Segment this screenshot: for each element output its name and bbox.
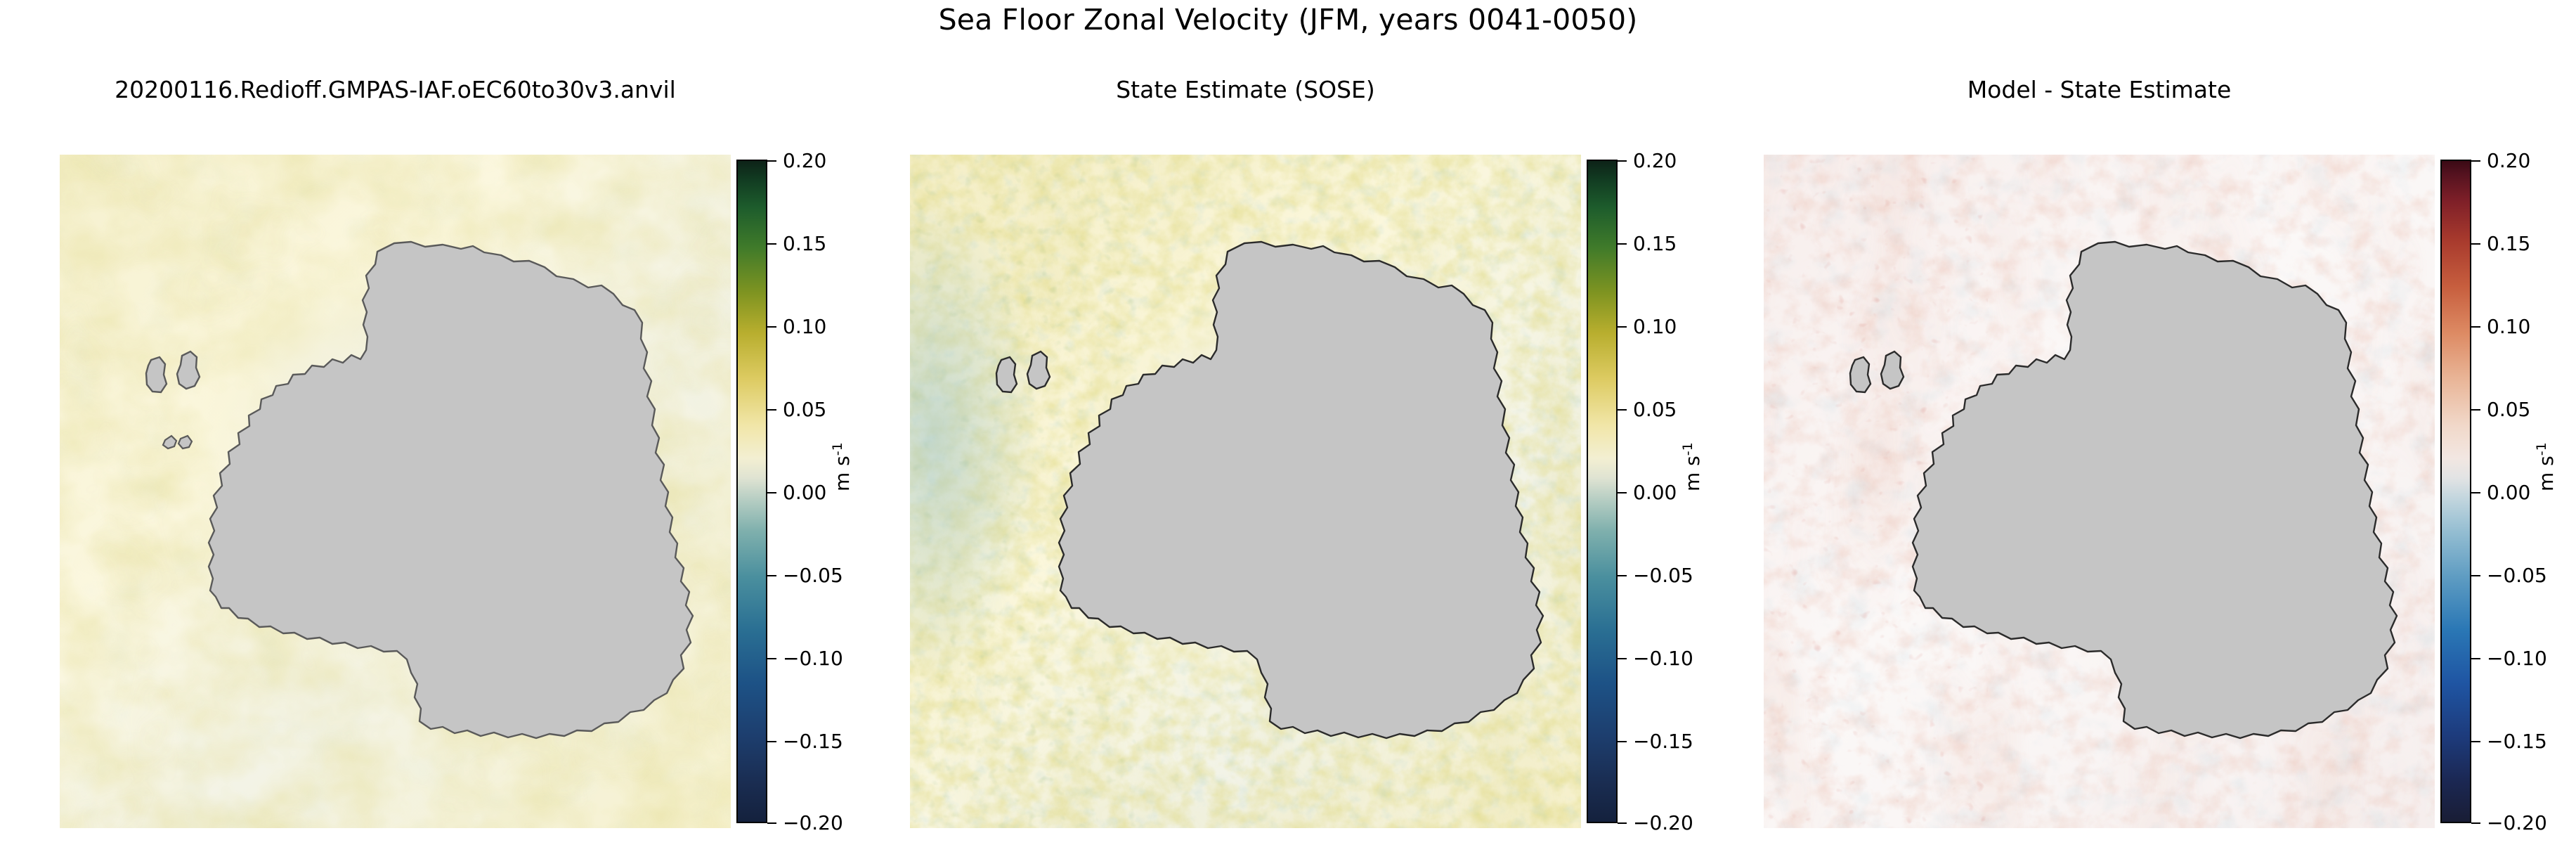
cb-tick-mark bbox=[1618, 243, 1627, 245]
cb-tick-label: −0.05 bbox=[1633, 562, 1693, 589]
cb-tick-label: −0.20 bbox=[1633, 810, 1693, 837]
cb-tick-label: 0.05 bbox=[2487, 396, 2530, 423]
colorbar-model[interactable]: 0.20 0.15 0.10 0.05 0.00 −0.05 −0.10 −0.… bbox=[736, 160, 898, 823]
cb-tick-label: 0.20 bbox=[783, 148, 826, 174]
colorbar-gradient-difference bbox=[2440, 160, 2471, 823]
cb-tick-mark bbox=[1618, 326, 1627, 328]
cb-tick-label: −0.05 bbox=[783, 562, 843, 589]
colorbar-ticks-model: 0.20 0.15 0.10 0.05 0.00 −0.05 −0.10 −0.… bbox=[767, 160, 898, 823]
map-svg-model bbox=[60, 155, 731, 828]
cb-tick-label: 0.10 bbox=[2487, 314, 2530, 340]
island-shape bbox=[996, 357, 1017, 392]
cb-tick-label: 0.05 bbox=[783, 396, 826, 423]
cb-tick-label: −0.10 bbox=[1633, 645, 1693, 672]
cb-tick-mark bbox=[767, 326, 776, 328]
cb-tick-mark bbox=[1618, 822, 1627, 824]
cb-tick-mark bbox=[767, 160, 776, 162]
unit-text: m s bbox=[1681, 456, 1704, 491]
colorbar-ticks-difference: 0.20 0.15 0.10 0.05 0.00 −0.05 −0.10 −0.… bbox=[2471, 160, 2576, 823]
unit-text: m s bbox=[831, 456, 854, 491]
cb-tick-label: −0.20 bbox=[2487, 810, 2547, 837]
cb-tick-label: −0.15 bbox=[2487, 728, 2547, 755]
map-panel-difference[interactable] bbox=[1764, 155, 2435, 828]
unit-text: m s bbox=[2535, 456, 2558, 491]
panel-title-difference: Model - State Estimate bbox=[1764, 76, 2435, 103]
cb-tick-label: −0.15 bbox=[1633, 728, 1693, 755]
cb-tick-label: 0.05 bbox=[1633, 396, 1677, 423]
cb-tick-mark bbox=[1618, 492, 1627, 493]
colorbar-gradient-model bbox=[736, 160, 767, 823]
colorbar-ticks-observations: 0.20 0.15 0.10 0.05 0.00 −0.05 −0.10 −0.… bbox=[1618, 160, 1748, 823]
panel-title-model: 20200116.Redioff.GMPAS-IAF.oEC60to30v3.a… bbox=[60, 76, 731, 103]
colorbar-unit-label-model: m s-1 bbox=[830, 442, 854, 491]
cb-tick-label: 0.10 bbox=[783, 314, 826, 340]
cb-tick-mark bbox=[1618, 575, 1627, 576]
cb-tick-mark bbox=[2471, 409, 2480, 411]
cb-tick-mark bbox=[2471, 243, 2480, 245]
map-panel-model[interactable] bbox=[60, 155, 731, 828]
map-canvas-difference bbox=[1764, 155, 2435, 828]
cb-tick-mark bbox=[767, 741, 776, 742]
island-shape bbox=[146, 357, 167, 392]
figure-title: Sea Floor Zonal Velocity (JFM, years 004… bbox=[0, 3, 2576, 37]
cb-tick-mark bbox=[1618, 160, 1627, 162]
cb-tick-mark bbox=[2471, 492, 2480, 493]
cb-tick-label: 0.15 bbox=[2487, 231, 2530, 257]
cb-tick-label: 0.15 bbox=[1633, 231, 1677, 257]
cb-tick-label: 0.20 bbox=[2487, 148, 2530, 174]
cb-tick-mark bbox=[767, 243, 776, 245]
map-canvas-observations bbox=[910, 155, 1581, 828]
cb-tick-label: 0.15 bbox=[783, 231, 826, 257]
cb-tick-label: 0.00 bbox=[2487, 479, 2530, 506]
cb-tick-label: −0.10 bbox=[783, 645, 843, 672]
cb-tick-mark bbox=[767, 658, 776, 659]
cb-tick-label: 0.10 bbox=[1633, 314, 1677, 340]
cb-tick-mark bbox=[767, 575, 776, 576]
island-shape bbox=[1850, 357, 1871, 392]
cb-tick-mark bbox=[1618, 658, 1627, 659]
cb-tick-label: 0.00 bbox=[1633, 479, 1677, 506]
map-svg-difference bbox=[1764, 155, 2435, 828]
colorbar-gradient-observations bbox=[1587, 160, 1618, 823]
map-canvas-model bbox=[60, 155, 731, 828]
cb-tick-label: 0.20 bbox=[1633, 148, 1677, 174]
cb-tick-label: −0.05 bbox=[2487, 562, 2547, 589]
cb-tick-mark bbox=[2471, 658, 2480, 659]
cb-tick-mark bbox=[2471, 326, 2480, 328]
cb-tick-mark bbox=[767, 409, 776, 411]
colorbar-difference[interactable]: 0.20 0.15 0.10 0.05 0.00 −0.05 −0.10 −0.… bbox=[2440, 160, 2576, 823]
cb-tick-label: −0.10 bbox=[2487, 645, 2547, 672]
unit-exponent: -1 bbox=[830, 442, 845, 456]
unit-exponent: -1 bbox=[2534, 442, 2549, 456]
cb-tick-mark bbox=[2471, 575, 2480, 576]
cb-tick-label: 0.00 bbox=[783, 479, 826, 506]
colorbar-unit-label-observations: m s-1 bbox=[1680, 442, 1704, 491]
cb-tick-mark bbox=[2471, 741, 2480, 742]
unit-exponent: -1 bbox=[1680, 442, 1696, 456]
cb-tick-mark bbox=[1618, 409, 1627, 411]
colorbar-unit-label-difference: m s-1 bbox=[2534, 442, 2558, 491]
cb-tick-mark bbox=[2471, 822, 2480, 824]
cb-tick-mark bbox=[767, 822, 776, 824]
cb-tick-mark bbox=[767, 492, 776, 493]
cb-tick-label: −0.15 bbox=[783, 728, 843, 755]
colorbar-observations[interactable]: 0.20 0.15 0.10 0.05 0.00 −0.05 −0.10 −0.… bbox=[1587, 160, 1748, 823]
cb-tick-label: −0.20 bbox=[783, 810, 843, 837]
panel-title-observations: State Estimate (SOSE) bbox=[910, 76, 1581, 103]
cb-tick-mark bbox=[2471, 160, 2480, 162]
map-svg-observations bbox=[910, 155, 1581, 828]
map-panel-observations[interactable] bbox=[910, 155, 1581, 828]
cb-tick-mark bbox=[1618, 741, 1627, 742]
